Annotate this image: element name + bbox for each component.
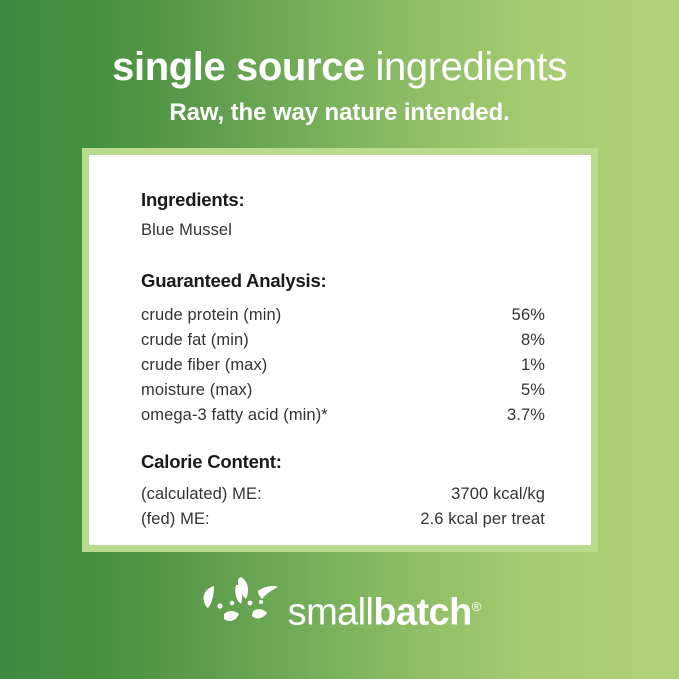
page-title-light: ingredients bbox=[365, 45, 567, 89]
page-subtitle: Raw, the way nature intended. bbox=[0, 90, 679, 127]
wordmark-batch: batch bbox=[373, 592, 471, 634]
spacer bbox=[141, 473, 545, 485]
analysis-label: crude protein (min) bbox=[141, 306, 477, 331]
info-card: Ingredients: Blue Mussel Guaranteed Anal… bbox=[89, 155, 591, 545]
analysis-value: 56% bbox=[477, 306, 545, 331]
table-row: omega-3 fatty acid (min)* 3.7% bbox=[141, 406, 545, 431]
analysis-label: moisture (max) bbox=[141, 381, 477, 406]
table-row: crude fiber (max) 1% bbox=[141, 356, 545, 381]
spacer bbox=[141, 292, 545, 306]
registered-trademark-icon: ® bbox=[472, 599, 482, 614]
table-row: crude fat (min) 8% bbox=[141, 331, 545, 356]
analysis-value: 8% bbox=[477, 331, 545, 356]
pet-faces-leaf-icon bbox=[198, 573, 284, 635]
calorie-content-heading: Calorie Content: bbox=[141, 451, 545, 473]
ingredients-value: Blue Mussel bbox=[141, 211, 545, 240]
page-title: single source ingredients bbox=[0, 0, 679, 90]
wordmark-small: small bbox=[288, 592, 374, 634]
analysis-value: 5% bbox=[477, 381, 545, 406]
ingredients-panel: single source ingredients Raw, the way n… bbox=[0, 0, 679, 679]
calorie-content-table: (calculated) ME: 3700 kcal/kg (fed) ME: … bbox=[141, 485, 545, 535]
table-row: moisture (max) 5% bbox=[141, 381, 545, 406]
brand-wordmark: smallbatch® bbox=[288, 588, 482, 632]
spacer bbox=[141, 431, 545, 451]
brand-logo: smallbatch® bbox=[0, 566, 679, 646]
calorie-value: 3700 kcal/kg bbox=[340, 485, 545, 510]
calorie-value: 2.6 kcal per treat bbox=[340, 510, 545, 535]
analysis-label: omega-3 fatty acid (min)* bbox=[141, 406, 477, 431]
header: single source ingredients Raw, the way n… bbox=[0, 0, 679, 127]
ingredients-heading: Ingredients: bbox=[141, 189, 545, 211]
analysis-label: crude fat (min) bbox=[141, 331, 477, 356]
guaranteed-analysis-table: crude protein (min) 56% crude fat (min) … bbox=[141, 306, 545, 431]
table-row: (fed) ME: 2.6 kcal per treat bbox=[141, 510, 545, 535]
page-title-bold: single source bbox=[112, 45, 365, 89]
info-card-frame: Ingredients: Blue Mussel Guaranteed Anal… bbox=[82, 148, 598, 552]
calorie-label: (calculated) ME: bbox=[141, 485, 340, 510]
guaranteed-analysis-heading: Guaranteed Analysis: bbox=[141, 270, 545, 292]
table-row: (calculated) ME: 3700 kcal/kg bbox=[141, 485, 545, 510]
analysis-value: 1% bbox=[477, 356, 545, 381]
calorie-label: (fed) ME: bbox=[141, 510, 340, 535]
analysis-label: crude fiber (max) bbox=[141, 356, 477, 381]
table-row: crude protein (min) 56% bbox=[141, 306, 545, 331]
spacer bbox=[141, 240, 545, 270]
analysis-value: 3.7% bbox=[477, 406, 545, 431]
